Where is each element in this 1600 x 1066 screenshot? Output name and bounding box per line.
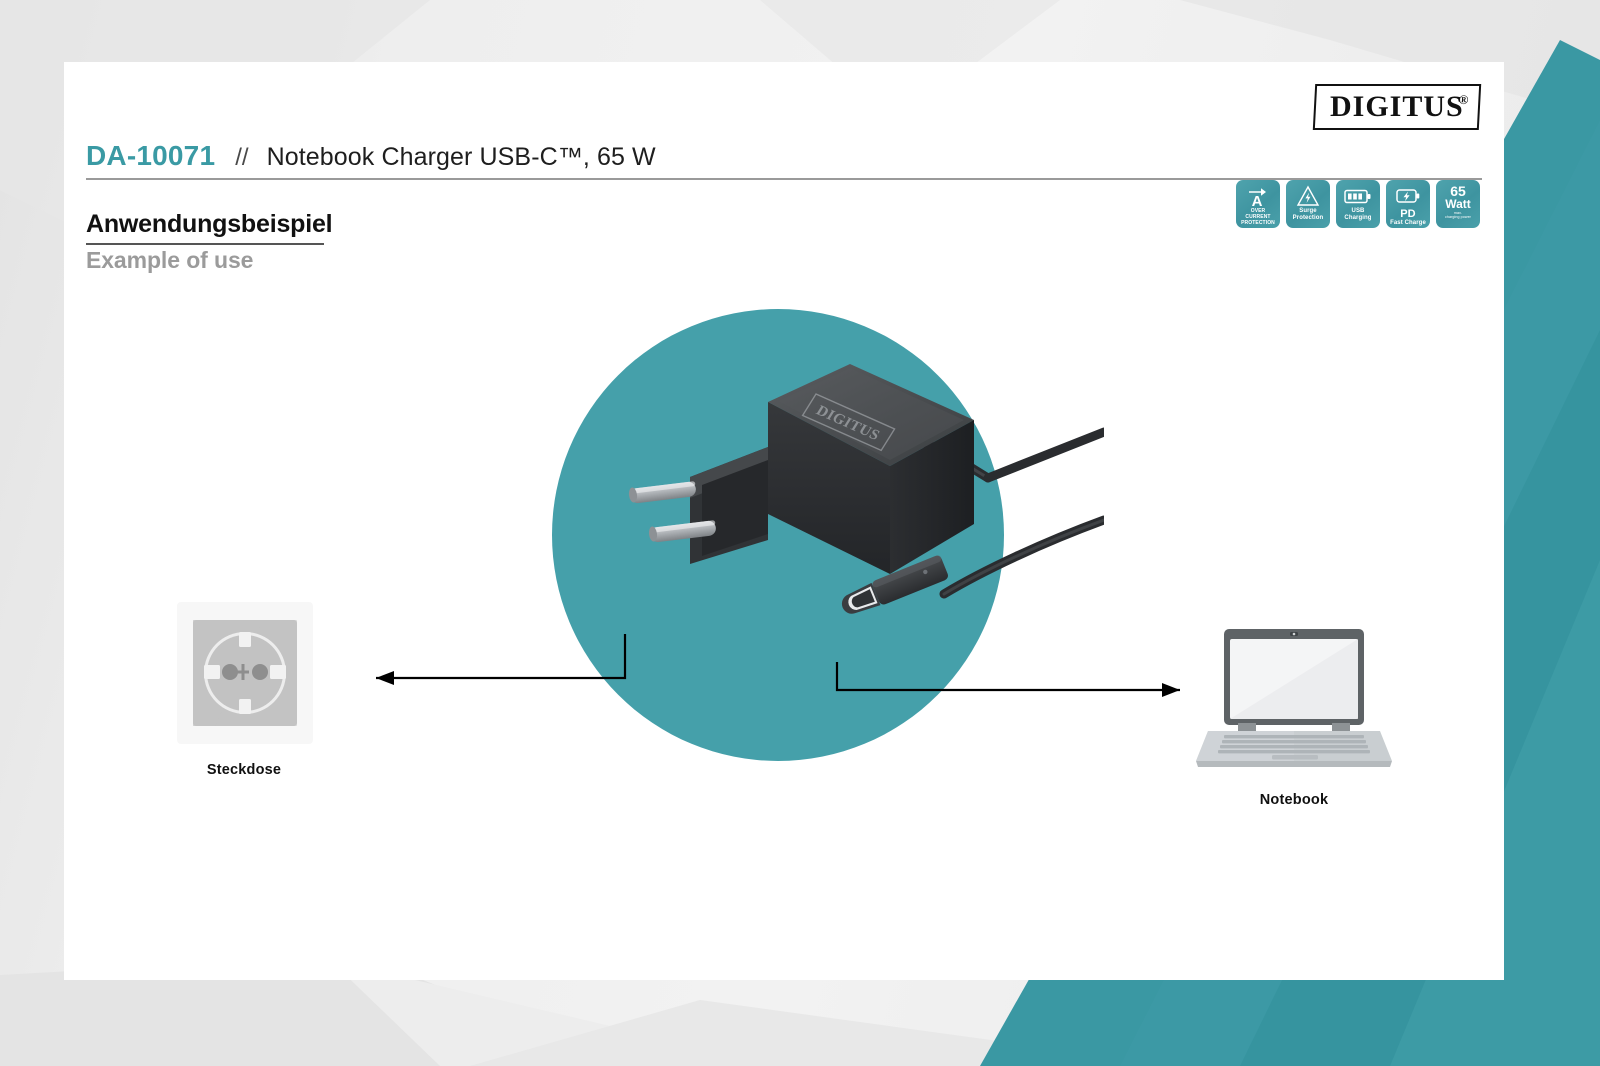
socket-label: Steckdose [144,762,344,778]
product-sku: DA-10071 [86,140,215,172]
badge-65-watt: 65 Watt max. charging power [1436,180,1480,228]
badge-caption-line-1: Surge [1286,208,1330,215]
feature-badges: A OVER CURRENT PROTECTION Surge Protecti… [1236,180,1480,228]
charger-illustration: DIGITUS [544,302,1104,772]
section-heading-en: Example of use [86,247,253,274]
digitus-logo: DIGITUS ® [1313,84,1481,130]
badge-caption-line-1: USB [1336,208,1380,215]
product-title-row: DA-10071 // Notebook Charger USB-C™, 65 … [86,140,1482,172]
over-current-icon: A [1245,184,1271,208]
badge-pd-label: PD [1386,208,1430,220]
svg-text:A: A [1252,193,1263,207]
surge-protection-icon [1295,184,1321,208]
digitus-logo-text: DIGITUS [1330,92,1464,122]
badge-caption-line-3: PROTECTION [1236,220,1280,226]
notebook-illustration [1194,627,1394,772]
badge-watt-value: 65 [1450,184,1466,198]
battery-bolt-icon [1395,184,1421,208]
badge-caption-line-2: Charging [1336,215,1380,222]
title-separator: // [235,144,248,172]
badge-usb-charging: USB Charging [1336,180,1380,228]
section-heading-de: Anwendungsbeispiel [86,210,332,239]
content-card: DIGITUS ® DA-10071 // Notebook Charger U… [64,62,1504,980]
slide-page: DIGITUS ® DA-10071 // Notebook Charger U… [0,0,1600,1066]
section-heading-underline [86,243,324,245]
badge-surge-protection: Surge Protection [1286,180,1330,228]
notebook-label: Notebook [1184,792,1404,808]
wall-socket-illustration [177,602,313,744]
badge-caption-line-2: Protection [1286,215,1330,222]
badge-watt-unit: Watt [1445,198,1471,211]
badge-pd-fast-charge: PD Fast Charge [1386,180,1430,228]
battery-icon [1343,184,1373,208]
badge-over-current-protection: A OVER CURRENT PROTECTION [1236,180,1280,228]
product-name: Notebook Charger USB-C™, 65 W [267,143,656,172]
badge-caption-line-2: charging power [1436,215,1480,219]
registered-trademark-icon: ® [1458,92,1469,108]
badge-caption-line-1: Fast Charge [1386,220,1430,227]
